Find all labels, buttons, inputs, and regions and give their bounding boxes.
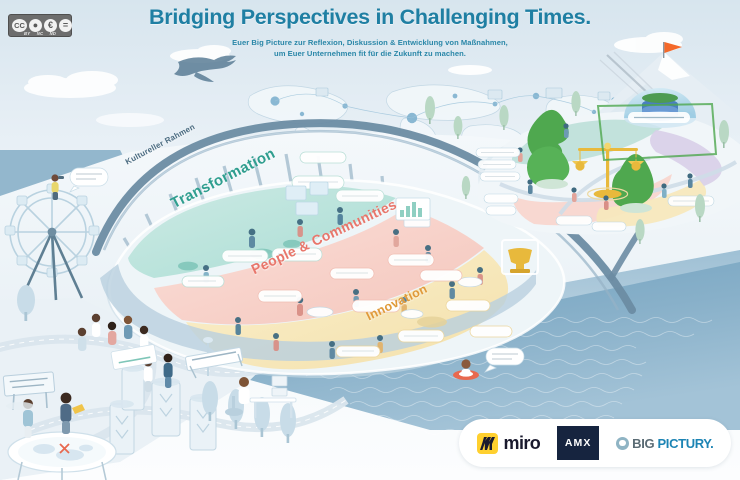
- transformation-chart-panel: [396, 198, 430, 220]
- miro-mark-icon: [477, 433, 498, 454]
- cc-license-labels: BY NC ND: [24, 31, 56, 36]
- nd-equals-icon: =: [59, 19, 72, 32]
- creative-commons-badge[interactable]: CC ● € = BY NC ND: [8, 14, 72, 37]
- amx-wordmark: AMX: [565, 437, 592, 449]
- amx-logo[interactable]: AMX: [557, 426, 599, 460]
- miro-logo[interactable]: miro: [477, 433, 541, 454]
- illustration-scene: [0, 0, 740, 480]
- sponsor-logo-bar: miro AMX BIG PICTURY.: [459, 419, 731, 467]
- big-pictury-word-big: BIG: [632, 436, 657, 451]
- flag-pole: [663, 42, 664, 58]
- cc-label-by: BY: [24, 31, 30, 36]
- big-pictury-wordmark: BIG PICTURY.: [632, 437, 713, 450]
- miro-wordmark: miro: [504, 434, 541, 452]
- cc-label-nc: NC: [37, 31, 43, 36]
- poster-canvas: CC ● € = BY NC ND Bridging Perspectives …: [0, 0, 740, 480]
- big-pictury-logo[interactable]: BIG PICTURY.: [616, 437, 713, 450]
- small-boat: [6, 402, 34, 410]
- big-pictury-word-pictury: PICTURY.: [657, 436, 713, 451]
- big-pictury-mark-icon: [616, 437, 629, 450]
- cc-label-nd: ND: [50, 31, 56, 36]
